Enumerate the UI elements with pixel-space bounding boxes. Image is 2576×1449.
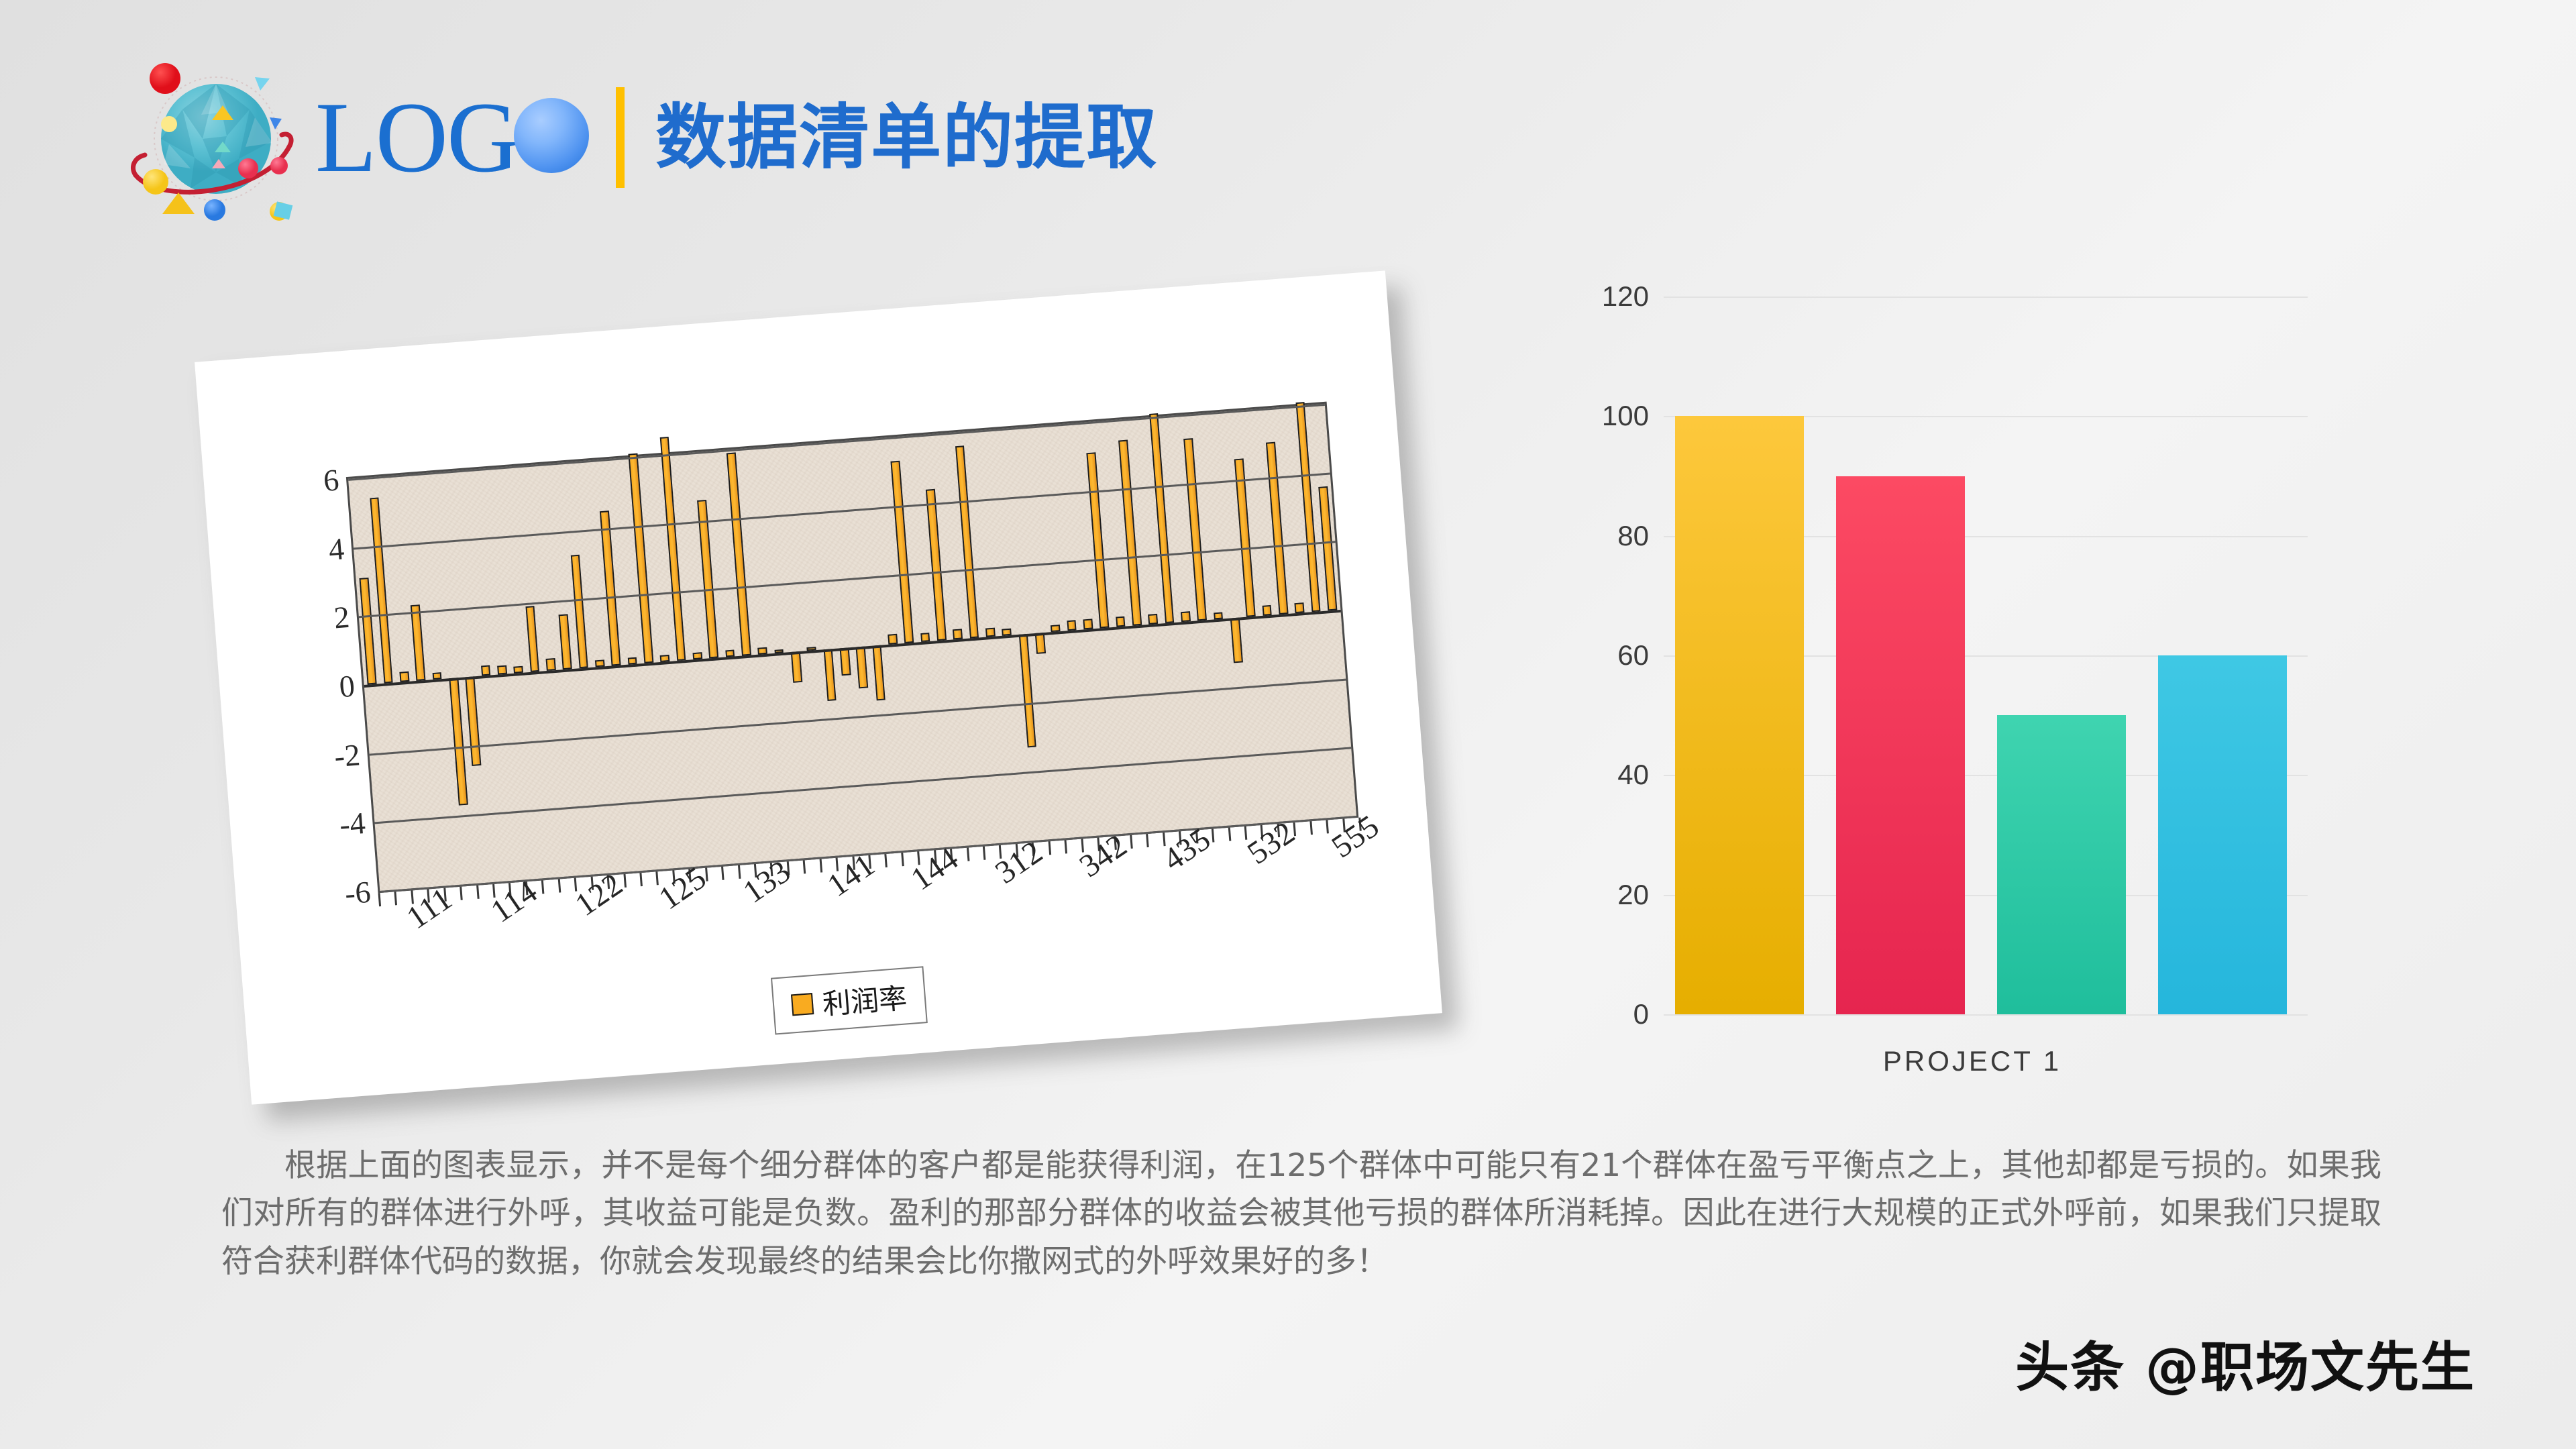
excel-x-tick	[1212, 828, 1215, 842]
excel-x-tick	[460, 887, 463, 900]
excel-bar	[360, 578, 377, 685]
excel-bar	[920, 633, 930, 642]
excel-x-tick	[819, 859, 822, 872]
bar-chart-y-tick-label: 60	[1617, 639, 1649, 672]
excel-x-tick	[1130, 835, 1133, 849]
excel-bar	[955, 445, 979, 639]
excel-y-tick-label: 2	[333, 599, 351, 636]
excel-bar	[570, 554, 588, 668]
excel-bar	[449, 678, 468, 805]
excel-bar	[1181, 611, 1191, 622]
excel-bar	[888, 633, 898, 644]
excel-x-tick	[378, 893, 382, 906]
excel-bar	[399, 671, 409, 682]
excel-plot-area: 6420-2-4-6	[346, 402, 1358, 894]
bar-chart-x-axis-label: PROJECT 1	[1529, 1045, 2415, 1077]
bar-chart-bar[interactable]	[2158, 655, 2287, 1014]
excel-bar	[1266, 442, 1288, 614]
excel-y-tick-label: -2	[333, 737, 361, 774]
excel-x-tick	[394, 892, 398, 905]
excel-bar	[1183, 438, 1206, 621]
slide-header: LOG 数据清单的提取	[121, 54, 1158, 221]
excel-x-tick	[1048, 841, 1051, 855]
bar-chart-bar[interactable]	[1836, 476, 1965, 1015]
excel-bar	[525, 606, 539, 672]
logo-wordmark: LOG	[315, 87, 518, 188]
excel-bar	[872, 645, 885, 701]
page-title: 数据清单的提取	[655, 103, 1158, 173]
excel-bar	[1067, 620, 1077, 631]
excel-y-tick-label: 0	[338, 668, 356, 705]
excel-bar	[1149, 413, 1175, 623]
excel-legend-swatch-icon	[791, 993, 814, 1016]
excel-legend: 利润率	[771, 966, 928, 1034]
excel-x-tick	[803, 860, 806, 873]
excel-bar	[891, 461, 914, 643]
excel-x-tick	[983, 847, 986, 860]
excel-bar	[953, 629, 963, 639]
excel-bar	[628, 453, 653, 663]
excel-bar	[823, 649, 836, 701]
bar-chart-y-tick-label: 40	[1617, 759, 1649, 791]
project-bar-chart: 120100806040200 PROJECT 1	[1529, 268, 2415, 1093]
bar-chart-y-tick-label: 20	[1617, 879, 1649, 911]
excel-bar	[1148, 614, 1158, 625]
bar-chart-gridline	[1664, 1014, 2308, 1016]
excel-y-tick-label: 6	[322, 462, 340, 499]
excel-y-tick-label: -4	[338, 805, 366, 843]
excel-bar	[856, 646, 868, 688]
bar-chart-y-tick-label: 0	[1633, 998, 1649, 1030]
excel-bar	[985, 628, 996, 637]
excel-x-tick	[541, 880, 545, 894]
excel-bar	[546, 658, 556, 671]
logo-sphere-icon	[514, 98, 589, 173]
excel-bar	[926, 489, 947, 641]
bar-chart-y-tick-label: 100	[1602, 400, 1649, 432]
globe-svg	[121, 50, 302, 225]
globe-logo-icon	[121, 50, 302, 225]
excel-bar	[1118, 439, 1142, 625]
excel-bar	[497, 665, 507, 675]
excel-bar	[1295, 602, 1305, 613]
bar-chart-y-tick-label: 120	[1602, 280, 1649, 313]
bar-chart-bar[interactable]	[1675, 416, 1804, 1014]
excel-bar	[697, 500, 718, 658]
excel-bar	[559, 614, 572, 669]
excel-x-tick	[967, 848, 970, 861]
bar-chart-plot-area: 120100806040200	[1664, 297, 2308, 1014]
bar-chart-gridline	[1664, 297, 2308, 298]
excel-bar	[411, 604, 425, 681]
excel-bar	[481, 665, 491, 676]
excel-x-tick	[1146, 834, 1150, 847]
excel-bar	[600, 511, 621, 665]
excel-bar	[1018, 634, 1036, 748]
excel-bar	[1087, 452, 1110, 628]
excel-chart-screenshot: 6420-2-4-6 11111412212513314114431234243…	[195, 270, 1442, 1104]
excel-x-tick	[558, 879, 561, 892]
excel-bar	[1083, 619, 1093, 629]
excel-y-axis	[252, 327, 1349, 412]
excel-bar	[466, 676, 482, 766]
body-paragraph: 根据上面的图表显示，并不是每个细分群体的客户都是能获得利润，在125个群体中可能…	[221, 1142, 2381, 1285]
excel-bar	[1234, 458, 1256, 616]
excel-chart-inner: 6420-2-4-6 11111412212513314114431234243…	[252, 327, 1399, 1061]
excel-x-tick	[623, 874, 627, 888]
excel-y-tick-label: 4	[327, 531, 345, 568]
excel-x-tick	[885, 854, 888, 867]
excel-x-tick	[1309, 821, 1313, 835]
excel-bar	[1318, 486, 1337, 610]
excel-x-tick	[721, 867, 724, 880]
excel-bar	[1262, 604, 1272, 615]
excel-bar	[1230, 618, 1243, 663]
bar-chart-y-tick-label: 80	[1617, 520, 1649, 552]
excel-y-tick-label: -6	[343, 874, 372, 912]
excel-x-tick	[901, 853, 904, 866]
bar-chart-bar[interactable]	[1997, 715, 2126, 1014]
slide: LOG 数据清单的提取 6420-2-4-6 11111412212513314…	[0, 0, 2576, 1449]
watermark: 头条 @职场文先生	[2015, 1324, 2475, 1402]
excel-legend-label: 利润率	[821, 975, 908, 1022]
excel-x-tick	[476, 885, 480, 899]
excel-bar	[791, 651, 802, 683]
excel-bar	[1295, 402, 1321, 612]
excel-bar	[1116, 616, 1126, 627]
excel-x-tick	[639, 873, 643, 886]
excel-bar	[659, 437, 686, 661]
excel-bar	[727, 453, 751, 656]
excel-bar	[840, 647, 851, 676]
title-divider	[616, 87, 625, 188]
excel-x-tick	[1065, 840, 1068, 853]
excel-x-tick	[1228, 828, 1231, 841]
